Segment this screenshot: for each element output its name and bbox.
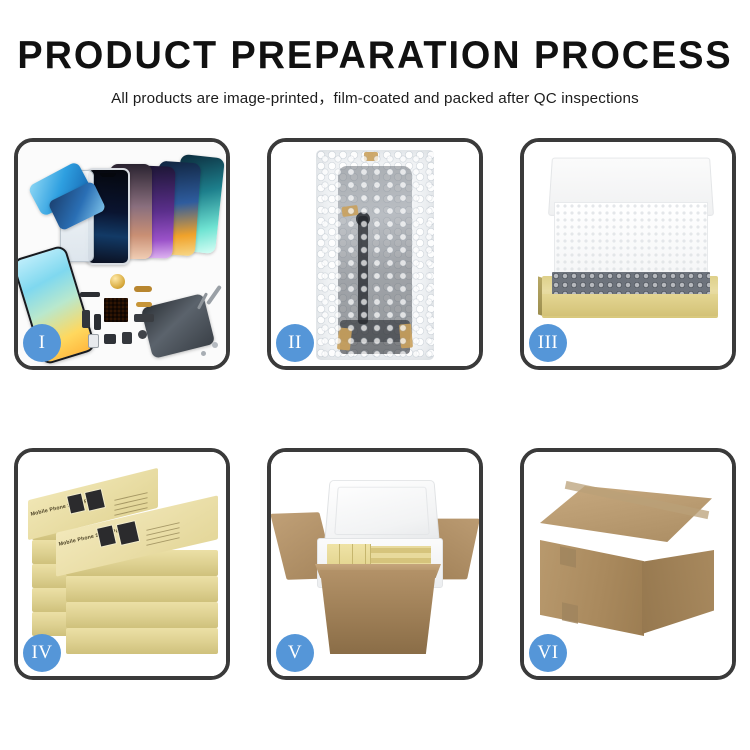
earpiece-bar-icon — [80, 292, 100, 297]
wrapped-screen-base-icon — [340, 320, 410, 354]
camera-module-icon — [104, 334, 116, 344]
sealed-carton-side — [642, 550, 714, 634]
tape-bottom-right-icon — [399, 324, 413, 349]
chip-grid-icon — [104, 298, 128, 322]
tape-top-icon — [364, 152, 378, 161]
carton-tape-upper — [560, 546, 576, 567]
front-box-3 — [66, 576, 218, 602]
sealed-carton-front — [540, 540, 644, 636]
flex-head-icon — [356, 212, 370, 226]
button-cap-icon — [138, 330, 147, 339]
tape-mid-icon — [341, 205, 358, 217]
tape-bottom-left-icon — [337, 327, 352, 350]
box-front-wall-icon — [542, 294, 718, 316]
carton-body — [315, 570, 441, 654]
panel-step-1[interactable]: I — [14, 138, 230, 370]
front-box-1 — [66, 628, 218, 654]
flex-cable-b-icon — [94, 314, 101, 330]
flex-cable-c-icon — [134, 314, 154, 322]
bubble-wrap-bag — [316, 150, 434, 360]
panel-step-4[interactable]: Mobile Phone Spare Parts Mobile Phone Sp… — [14, 448, 230, 680]
flex-cable-a-icon — [82, 310, 90, 328]
page-subtitle: All products are image-printed，film-coat… — [0, 86, 750, 108]
front-box-2 — [66, 602, 218, 628]
flex-connector-a-icon — [134, 286, 152, 292]
speaker-coil-icon — [110, 274, 125, 289]
panel-step-6[interactable]: VI — [520, 448, 736, 680]
wrapped-screen-icon — [338, 166, 412, 342]
panel-step-3[interactable]: III — [520, 138, 736, 370]
step-badge-5: V — [276, 634, 314, 672]
screw-b-icon — [201, 351, 206, 356]
sim-tray-icon — [88, 334, 99, 348]
foam-sheet-icon — [554, 202, 708, 282]
step-badge-1: I — [23, 324, 61, 362]
page-header: PRODUCT PREPARATION PROCESS All products… — [0, 0, 750, 108]
process-panel-grid: I II — [14, 138, 736, 680]
step-badge-2: II — [276, 324, 314, 362]
step-badge-3: III — [529, 324, 567, 362]
flex-cable-icon — [358, 216, 368, 324]
panel-step-2[interactable]: II — [267, 138, 483, 370]
panel-step-5[interactable]: V — [267, 448, 483, 680]
flex-connector-b-icon — [136, 302, 152, 307]
page-title: PRODUCT PREPARATION PROCESS — [11, 36, 739, 77]
carton-tape-lower — [562, 602, 578, 623]
foam-lid-icon — [324, 480, 440, 543]
step-badge-4: IV — [23, 634, 61, 672]
screwdriver-a-icon — [206, 285, 222, 305]
step-badge-6: VI — [529, 634, 567, 672]
vibration-motor-icon — [122, 332, 132, 344]
screw-a-icon — [212, 342, 218, 348]
